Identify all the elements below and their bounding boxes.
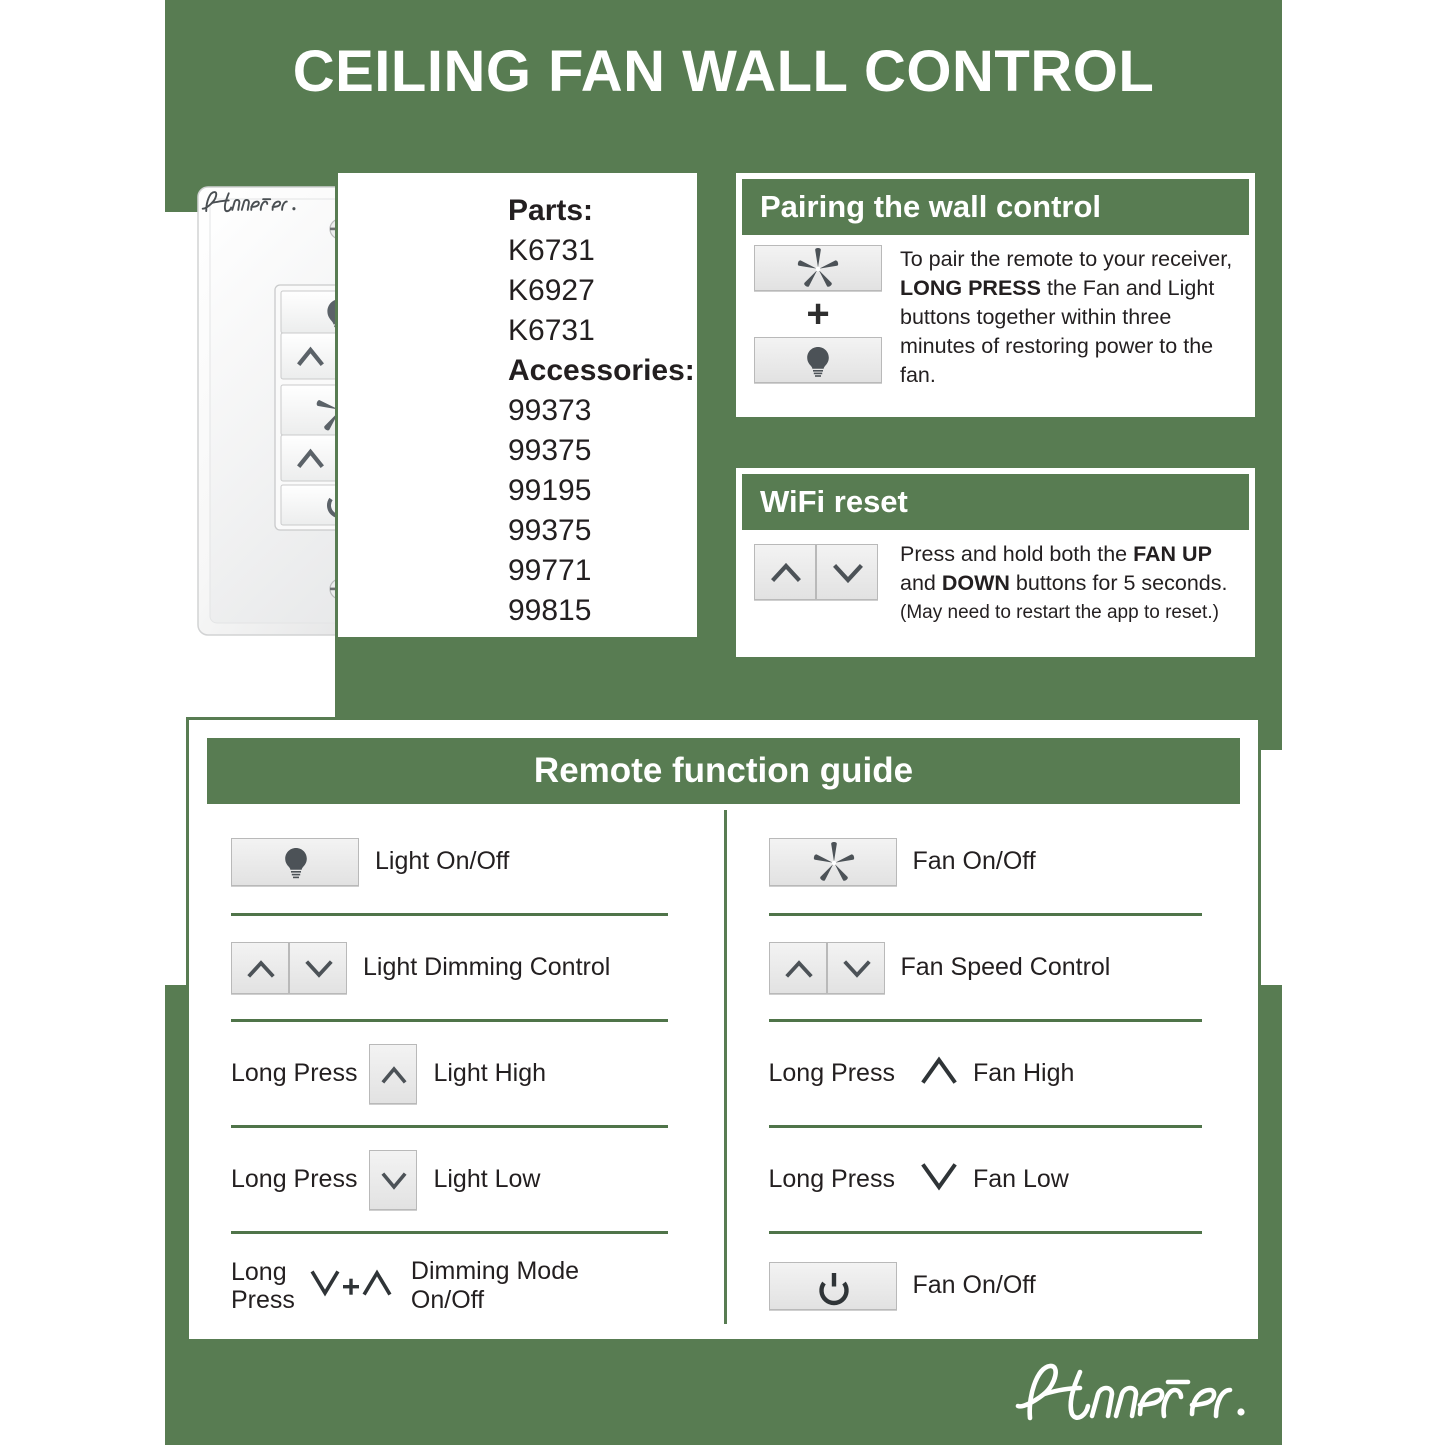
chevron-down-icon [290, 943, 348, 995]
pairing-heading: Pairing the wall control [742, 179, 1249, 235]
fan-star-icon [770, 839, 898, 887]
wifi-reset-heading: WiFi reset [742, 474, 1249, 530]
fan-power-key[interactable] [769, 1262, 897, 1310]
fan-low-chevron [917, 1157, 961, 1202]
guide-left-column: Light On/Off Light Dimming Control [189, 810, 724, 1324]
chevron-down-icon [817, 545, 879, 601]
wifi-text-1: Press and hold both the [900, 542, 1133, 566]
guide-row-fan-low: Long Press Fan Low [769, 1128, 1237, 1231]
fan-on-off-key[interactable] [769, 838, 897, 886]
fan-up-key[interactable] [769, 942, 827, 994]
guide-label-line2: On/Off [411, 1286, 484, 1314]
fan-speed-keys [769, 942, 885, 994]
chevron-up-icon [917, 1051, 961, 1091]
wifi-instruction-text: Press and hold both the FAN UP and DOWN … [900, 540, 1237, 627]
guide-row-light-on-off: Light On/Off [231, 810, 702, 913]
pairing-text-bold: LONG PRESS [900, 276, 1041, 300]
remote-function-guide-card: Remote function guide Light On/Off [186, 717, 1261, 1342]
guide-label: Light Dimming Control [363, 953, 610, 982]
guide-row-fan-high: Long Press Fan High [769, 1022, 1237, 1125]
parts-card: Parts: K6731 K6927 K6731 Accessories: 99… [335, 170, 700, 640]
light-bulb-icon [788, 338, 848, 384]
light-high-key[interactable] [369, 1044, 417, 1104]
pairing-fan-key[interactable] [754, 245, 882, 291]
guide-prefix: Long Press [769, 1059, 895, 1088]
wifi-text-2: and [900, 571, 942, 595]
guide-row-light-high: Long Press Light High [231, 1022, 702, 1125]
accessory-number: 99195 [508, 471, 695, 511]
guide-prefix: Long Press [769, 1165, 895, 1194]
fan-down-key[interactable] [827, 942, 885, 994]
chevron-up-icon [370, 1045, 418, 1105]
chevron-down-icon [313, 1273, 337, 1293]
chevron-up-icon [232, 943, 290, 995]
guide-label: Fan High [973, 1059, 1074, 1088]
light-low-key[interactable] [369, 1150, 417, 1210]
wifi-fan-up-key[interactable] [754, 544, 816, 600]
part-number: K6731 [508, 231, 695, 271]
wifi-reset-body: Press and hold both the FAN UP and DOWN … [742, 530, 1249, 633]
pairing-text-1: To pair the remote to your receiver, [900, 247, 1232, 271]
guide-label: Fan On/Off [913, 1271, 1036, 1300]
hunter-brand-logo [1010, 1352, 1250, 1432]
chevron-up-icon [770, 943, 828, 995]
guide-columns: Light On/Off Light Dimming Control [189, 804, 1258, 1324]
pairing-instruction-text: To pair the remote to your receiver, LON… [900, 245, 1237, 390]
pairing-card: Pairing the wall control [733, 170, 1258, 420]
accessory-number: 99771 [508, 551, 695, 591]
fan-high-chevron [917, 1051, 961, 1096]
wifi-fan-down-key[interactable] [816, 544, 878, 600]
light-on-off-key[interactable] [231, 838, 359, 886]
guide-prefix-line1: Long [231, 1258, 287, 1286]
accessory-number: 99375 [508, 431, 695, 471]
chevron-down-icon [917, 1157, 961, 1197]
wifi-key-pair [754, 540, 886, 627]
power-icon [770, 1263, 898, 1311]
guide-label: Fan Speed Control [901, 953, 1111, 982]
parts-list: Parts: K6731 K6927 K6731 Accessories: 99… [508, 191, 695, 631]
chevron-up-icon [755, 545, 817, 601]
guide-row-fan-on-off: Fan On/Off [769, 810, 1237, 913]
plus-icon [343, 1279, 359, 1295]
chevron-down-icon [828, 943, 886, 995]
parts-heading: Parts: [508, 191, 695, 231]
guide-row-light-low: Long Press Light Low [231, 1128, 702, 1231]
remote-function-guide-heading: Remote function guide [207, 738, 1240, 804]
poster-root: CEILING FAN WALL CONTROL [0, 0, 1445, 1445]
wifi-reset-card: WiFi reset Press and hold both the FAN U… [733, 465, 1258, 660]
fan-star-icon [788, 246, 848, 292]
part-number: K6927 [508, 271, 695, 311]
guide-right-column: Fan On/Off Fan Speed Control [724, 810, 1259, 1324]
guide-label: Light On/Off [375, 847, 509, 876]
guide-row-fan-speed: Fan Speed Control [769, 916, 1237, 1019]
guide-label: Dimming Mode On/Off [411, 1257, 579, 1315]
accessory-number: 99373 [508, 391, 695, 431]
guide-prefix: Long Press [231, 1258, 295, 1314]
guide-label: Fan Low [973, 1165, 1069, 1194]
wifi-reset-note: (May need to restart the app to reset.) [900, 598, 1237, 627]
pairing-light-key[interactable] [754, 337, 882, 383]
guide-label-line1: Dimming Mode [411, 1257, 579, 1285]
guide-row-dimming-mode: Long Press Dimming Mode On/Off [231, 1234, 702, 1337]
guide-label: Light High [433, 1059, 546, 1088]
wifi-text-bold-1: FAN UP [1133, 542, 1212, 566]
dimming-combo-icons [307, 1261, 401, 1310]
guide-prefix-line2: Press [231, 1286, 295, 1314]
wifi-text-3: buttons for 5 seconds. [1010, 571, 1228, 595]
chevron-down-icon [370, 1151, 418, 1211]
pairing-key-stack: + [754, 245, 886, 390]
guide-label: Light Low [433, 1165, 540, 1194]
wifi-text-bold-2: DOWN [942, 571, 1010, 595]
accessories-heading: Accessories: [508, 351, 695, 391]
accessory-number: 99815 [508, 591, 695, 631]
chevron-up-icon [365, 1273, 389, 1293]
guide-prefix: Long Press [231, 1165, 357, 1194]
page-title: CEILING FAN WALL CONTROL [165, 38, 1282, 105]
guide-label: Fan On/Off [913, 847, 1036, 876]
light-up-key[interactable] [231, 942, 289, 994]
guide-prefix: Long Press [231, 1059, 357, 1088]
light-bulb-icon [232, 839, 360, 887]
light-down-key[interactable] [289, 942, 347, 994]
pairing-plus-sign: + [754, 297, 882, 331]
accessory-number: 99375 [508, 511, 695, 551]
light-dimming-keys [231, 942, 347, 994]
guide-row-fan-power: Fan On/Off [769, 1234, 1237, 1337]
pairing-body: + To pair the remote to your receiver, L… [742, 235, 1249, 396]
guide-row-light-dimming: Light Dimming Control [231, 916, 702, 1019]
part-number: K6731 [508, 311, 695, 351]
